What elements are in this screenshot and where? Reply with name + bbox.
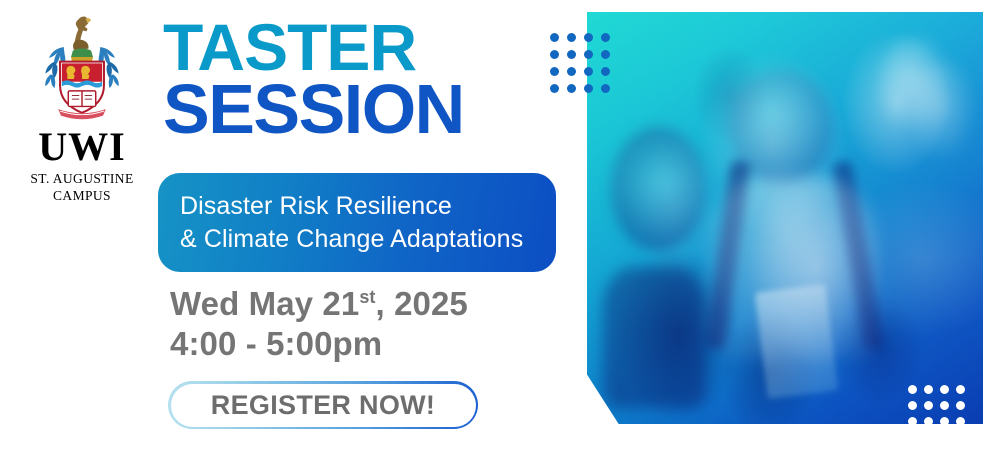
topic-banner: Disaster Risk Resilience & Climate Chang… <box>158 173 556 272</box>
uwi-campus-line-2: CAMPUS <box>53 188 111 204</box>
flyer-canvas: UWI ST. AUGUSTINE CAMPUS TASTER SESSION … <box>0 0 1000 450</box>
decor-dot <box>584 67 593 76</box>
event-date-ordinal: st <box>359 287 375 307</box>
decor-dot <box>956 385 965 394</box>
decor-dot <box>908 417 917 426</box>
decor-dot <box>567 67 576 76</box>
decor-dot <box>601 33 610 42</box>
decor-dot <box>601 50 610 59</box>
decor-dot <box>567 33 576 42</box>
headline-line-session: SESSION <box>163 78 464 140</box>
event-time: 4:00 - 5:00pm <box>170 324 468 364</box>
dot-grid-top-left <box>550 33 618 101</box>
decor-dot <box>601 84 610 93</box>
hero-photo <box>587 12 983 424</box>
decor-dot <box>550 33 559 42</box>
decor-dot <box>924 401 933 410</box>
uwi-wordmark: UWI <box>38 126 125 168</box>
register-button-label: REGISTER NOW! <box>211 390 435 421</box>
uwi-logo-block: UWI ST. AUGUSTINE CAMPUS <box>18 14 146 204</box>
uwi-campus-line-1: ST. AUGUSTINE <box>30 171 133 187</box>
topic-line-2: & Climate Change Adaptations <box>180 223 556 256</box>
dot-grid-bottom-right <box>908 385 972 433</box>
decor-dot <box>924 385 933 394</box>
decor-dot <box>940 401 949 410</box>
decor-dot <box>550 84 559 93</box>
register-now-button[interactable]: REGISTER NOW! <box>168 381 478 429</box>
decor-dot <box>908 401 917 410</box>
hero-photo-overlay <box>587 12 983 424</box>
register-button-inner: REGISTER NOW! <box>171 384 476 427</box>
decor-dot <box>550 50 559 59</box>
schedule-block: Wed May 21st, 2025 4:00 - 5:00pm <box>170 284 468 364</box>
decor-dot <box>908 385 917 394</box>
headline: TASTER SESSION <box>163 16 464 140</box>
event-date-prefix: Wed May 21 <box>170 285 359 322</box>
decor-dot <box>940 385 949 394</box>
event-date-suffix: , 2025 <box>376 285 468 322</box>
topic-line-1: Disaster Risk Resilience <box>180 190 556 223</box>
decor-dot <box>584 84 593 93</box>
decor-dot <box>601 67 610 76</box>
headline-line-taster: TASTER <box>163 16 464 78</box>
decor-dot <box>940 417 949 426</box>
decor-dot <box>924 417 933 426</box>
decor-dot <box>584 33 593 42</box>
decor-dot <box>550 67 559 76</box>
event-date: Wed May 21st, 2025 <box>170 284 468 324</box>
decor-dot <box>567 84 576 93</box>
decor-dot <box>956 417 965 426</box>
decor-dot <box>584 50 593 59</box>
uwi-coat-of-arms-icon <box>28 14 136 122</box>
decor-dot <box>567 50 576 59</box>
decor-dot <box>956 401 965 410</box>
